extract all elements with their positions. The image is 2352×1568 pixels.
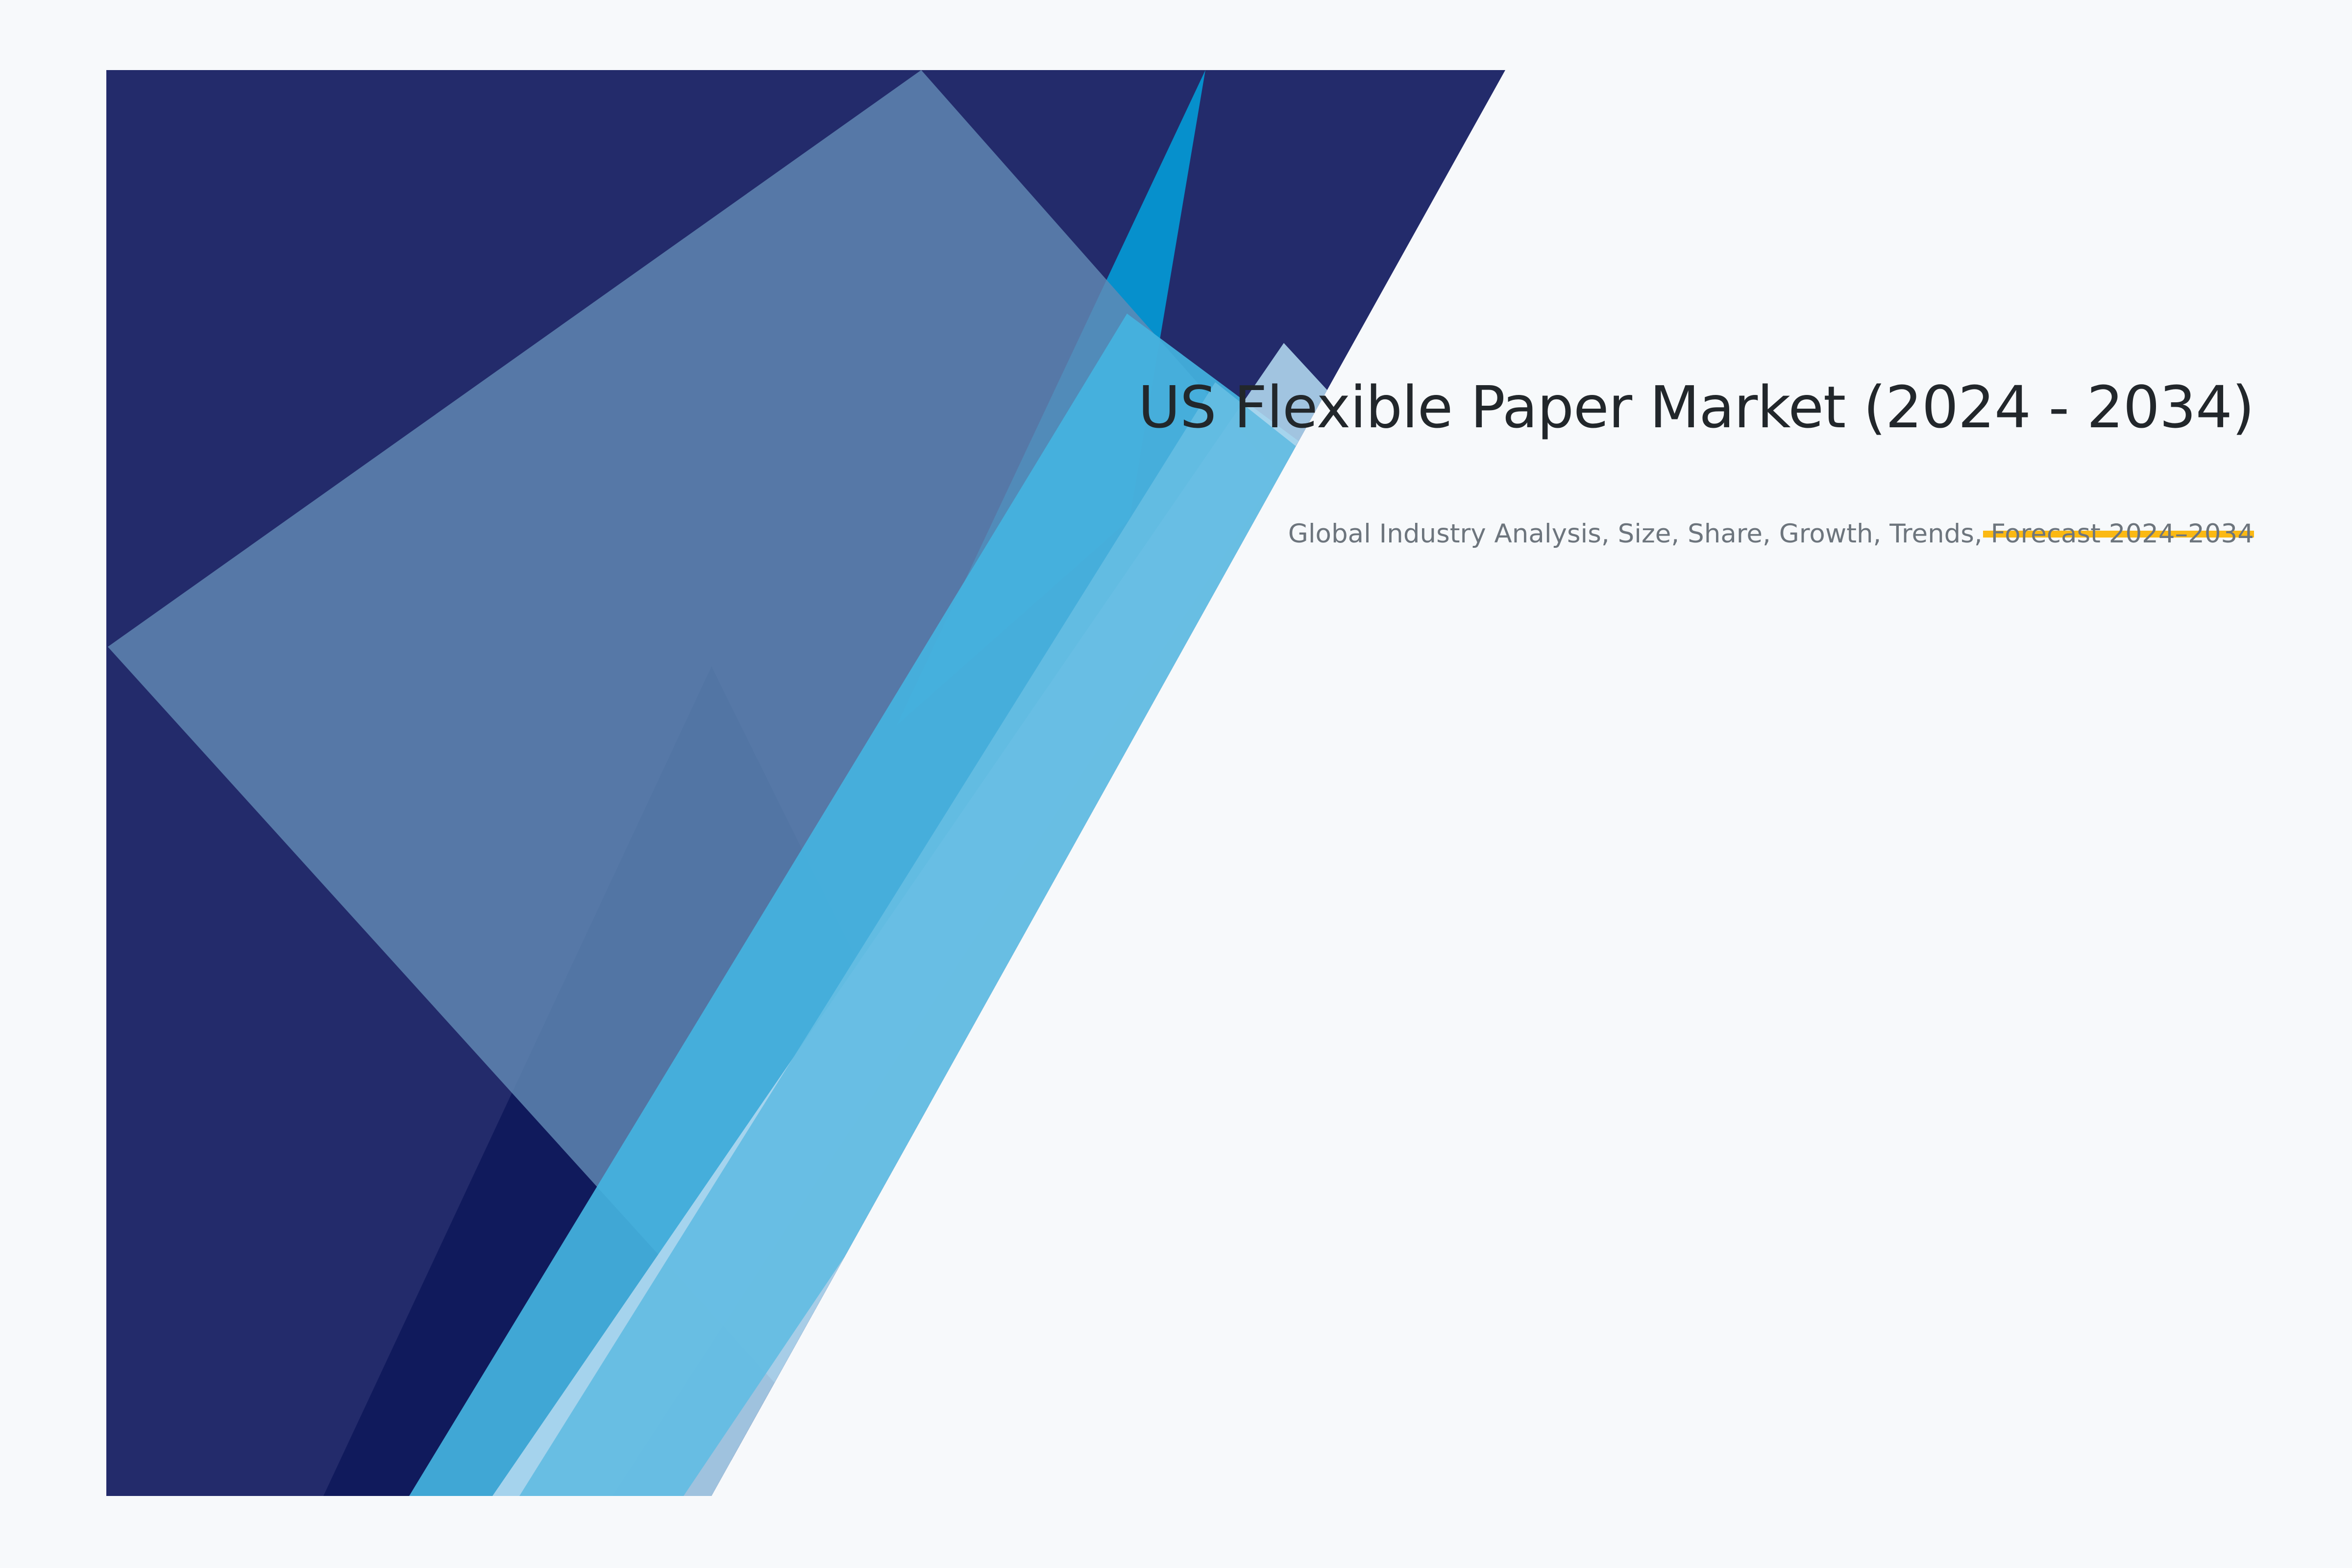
- deep-navy-wedge: [323, 666, 711, 1496]
- abstract-geometric-cover-graphic: [0, 0, 2352, 1568]
- slate-quad: [108, 70, 1431, 1496]
- cover-slide: US Flexible Paper Market (2024 - 2034) G…: [0, 0, 2352, 1568]
- deep-navy-panel: [421, 666, 1122, 1496]
- page-title: US Flexible Paper Market (2024 - 2034): [1000, 372, 2254, 443]
- navy-backdrop: [106, 70, 1505, 1496]
- title-group: US Flexible Paper Market (2024 - 2034) G…: [1000, 372, 2254, 551]
- page-subtitle: Global Industry Analysis, Size, Share, G…: [1000, 443, 2254, 551]
